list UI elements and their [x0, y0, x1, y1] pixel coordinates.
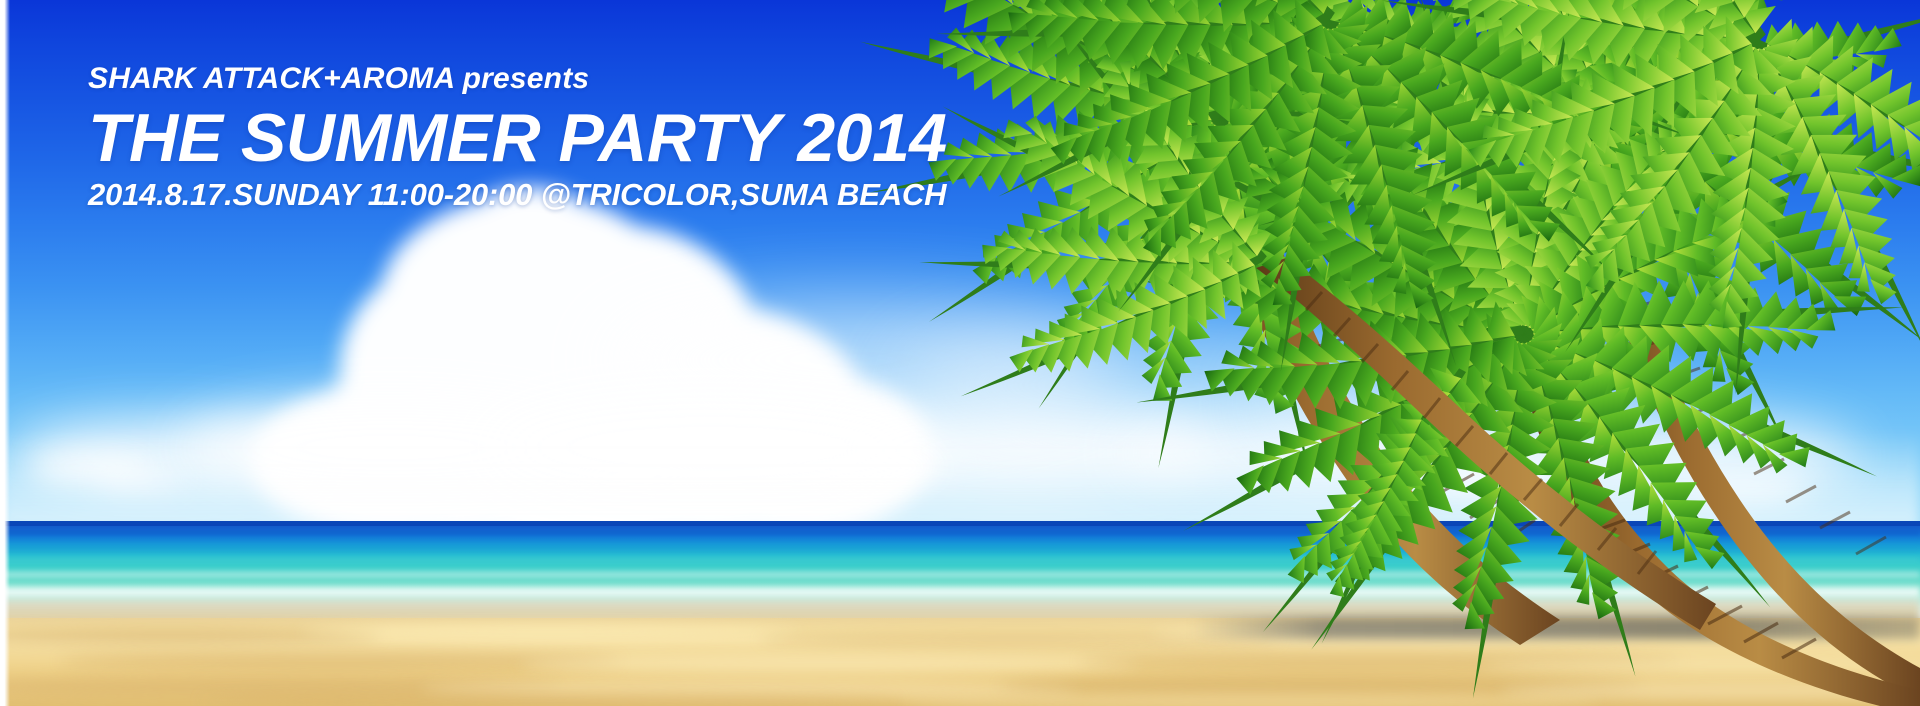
surf-foam	[0, 584, 1920, 600]
palm-shadow-on-sand	[1190, 617, 1920, 639]
ocean-stripe-1	[0, 530, 1920, 535]
page-title: THE SUMMER PARTY 2014	[88, 104, 947, 173]
banner-text-block: SHARK ATTACK+AROMA presents THE SUMMER P…	[88, 64, 947, 210]
summer-party-banner: SHARK ATTACK+AROMA presents THE SUMMER P…	[0, 0, 1920, 706]
presenter-line: SHARK ATTACK+AROMA presents	[88, 64, 947, 94]
ocean-stripe-3	[0, 558, 1920, 562]
sand-ripple	[200, 692, 900, 706]
left-edge-highlight	[0, 0, 10, 706]
sand-ripple	[300, 624, 800, 638]
event-details-line: 2014.8.17.SUNDAY 11:00-20:00 @TRICOLOR,S…	[88, 179, 947, 210]
sand-ripple	[1500, 682, 1920, 700]
surf-line-outer	[0, 570, 1920, 579]
ocean-stripe-2	[0, 545, 1920, 549]
horizon-haze	[0, 430, 1920, 530]
sand-ripple	[900, 694, 1600, 706]
sand-ripple	[520, 656, 1140, 673]
ocean-horizon-dark-line	[0, 521, 1920, 526]
sand-ripple	[1480, 658, 1920, 674]
